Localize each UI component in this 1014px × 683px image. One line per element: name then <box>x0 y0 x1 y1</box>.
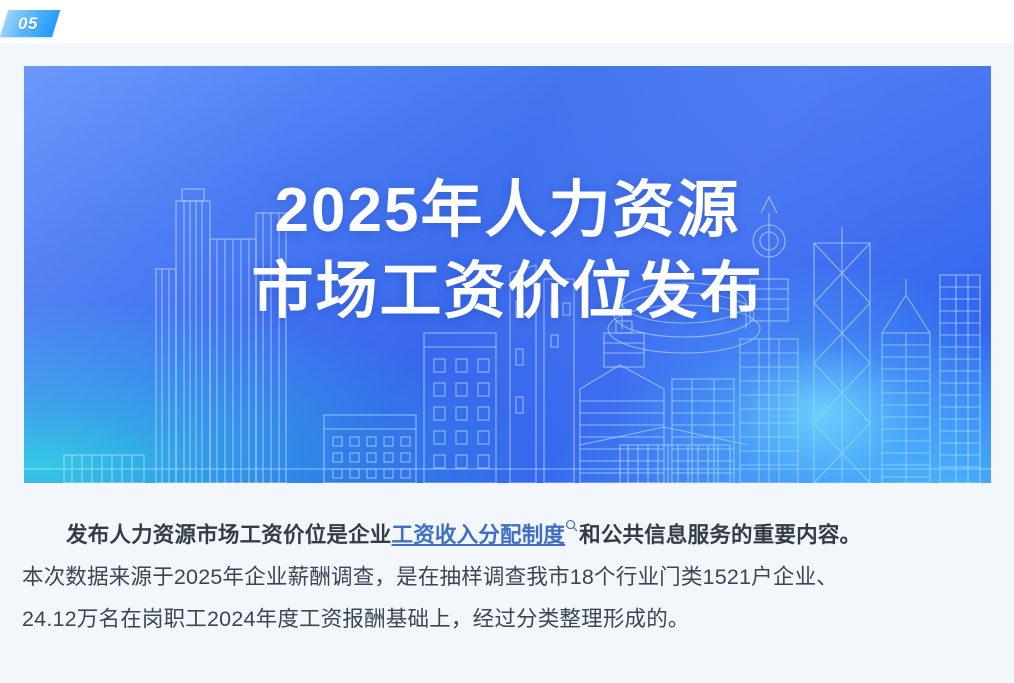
body-lead-text-2: 和公共信息服务的重要内容。 <box>579 523 861 547</box>
wage-distribution-system-link[interactable]: 工资收入分配制度 <box>392 523 566 547</box>
body-line-1: 发布人力资源市场工资价位是企业工资收入分配制度和公共信息服务的重要内容。 <box>22 514 996 556</box>
body-lead-text-1: 发布人力资源市场工资价位是企业 <box>66 523 392 547</box>
city-skyline-illustration <box>24 183 991 483</box>
section-number-badge <box>0 10 60 37</box>
search-icon <box>565 519 578 532</box>
banner-title-line-2: 市场工资价位发布 <box>24 251 991 332</box>
banner-title-line-1: 2025年人力资源 <box>24 170 991 251</box>
banner-glow <box>611 263 991 483</box>
page-root: 05 <box>0 0 1014 683</box>
body-line-2: 本次数据来源于2025年企业薪酬调查，是在抽样调查我市18个行业门类1521户企… <box>22 556 996 598</box>
body-copy: 发布人力资源市场工资价位是企业工资收入分配制度和公共信息服务的重要内容。 本次数… <box>22 514 996 640</box>
hero-banner: 2025年人力资源 市场工资价位发布 <box>24 66 991 483</box>
body-line-3: 24.12万名在岗职工2024年度工资报酬基础上，经过分类整理形成的。 <box>22 598 996 640</box>
banner-sheen-overlay <box>24 66 991 483</box>
banner-title: 2025年人力资源 市场工资价位发布 <box>24 170 991 332</box>
